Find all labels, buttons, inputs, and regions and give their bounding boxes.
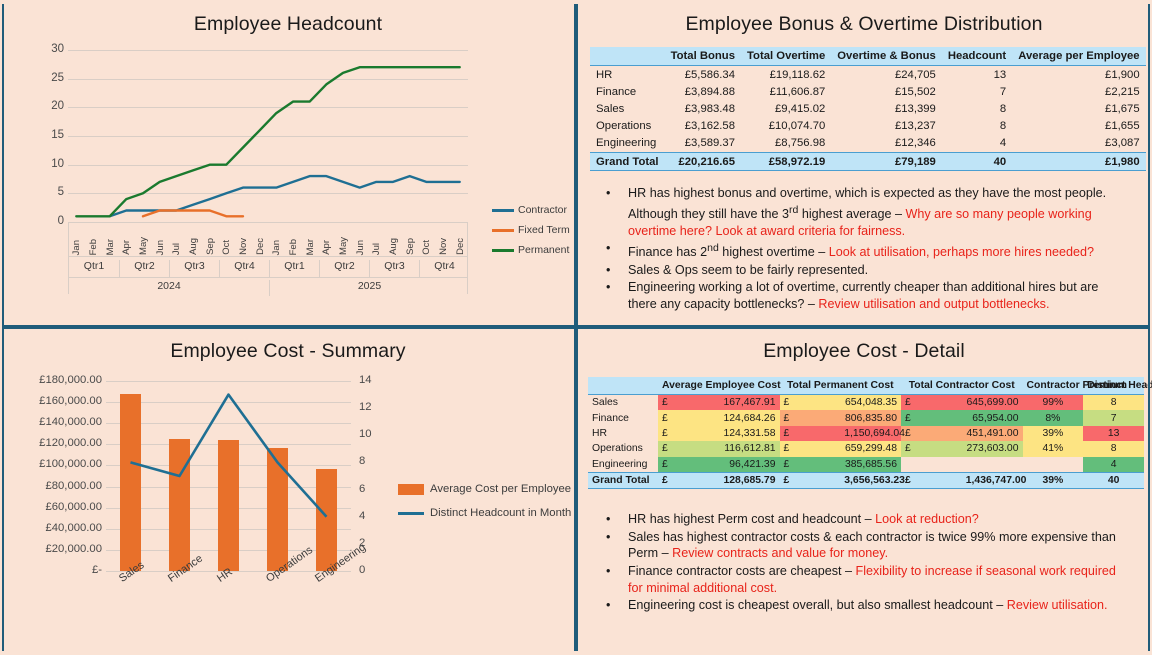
detail-cell-avg: 96,421.39	[719, 457, 780, 473]
detail-cell-perm: 1,150,694.04	[840, 426, 901, 441]
bonus-cell-bonus: £5,586.34	[665, 66, 741, 84]
headcount-series-svg	[68, 50, 468, 222]
bonus-cell-combined: £24,705	[831, 66, 942, 84]
detail-currency-symbol: £	[658, 426, 719, 441]
panel-bonus-overtime: Employee Bonus & Overtime Distribution T…	[576, 0, 1152, 327]
detail-currency-symbol: £	[901, 410, 962, 425]
legend-swatch	[398, 484, 424, 495]
table-row: Sales£3,983.48£9,415.02£13,3998£1,675	[590, 100, 1146, 117]
bullet-action-text: Look at utilisation, perhaps more hires …	[829, 245, 1094, 259]
headcount-x-axis: JanFebMarAprMayJunJulAugSepOctNovDecJanF…	[68, 222, 468, 294]
line-series-permanent	[76, 67, 459, 216]
panel-cost-summary: Employee Cost - Summary £-£20,000.00£40,…	[0, 327, 576, 655]
bullet-text: Engineering working a lot of overtime, c…	[628, 279, 1126, 312]
bullet-action-text: Look at reduction?	[875, 512, 979, 526]
bonus-cell-headcount: 4	[942, 135, 1012, 153]
x-tick-label: Dec	[454, 238, 468, 255]
quarter-label: Qtr1	[69, 260, 119, 277]
headcount-quarter-labels: Qtr1Qtr2Qtr3Qtr4Qtr1Qtr2Qtr3Qtr4	[69, 256, 467, 277]
detail-col-header: Distinct Headcount	[1083, 377, 1144, 395]
table-row: Finance£124,684.26£806,835.80£65,954.008…	[588, 410, 1144, 425]
table-row: HR£124,331.58£1,150,694.04£451,491.0039%…	[588, 426, 1144, 441]
detail-currency-symbol: £	[658, 410, 719, 425]
headcount-line-series	[131, 395, 327, 517]
quarter-label: Qtr2	[119, 260, 169, 277]
detail-table: Average Employee CostTotal Permanent Cos…	[588, 377, 1144, 489]
legend-item[interactable]: Contractor	[492, 200, 576, 220]
bonus-title: Employee Bonus & Overtime Distribution	[576, 0, 1152, 38]
detail-col-header: Contractor Premium	[1023, 377, 1084, 395]
bonus-col-header: Average per Employee	[1012, 47, 1145, 66]
detail-cell-premium: 99%	[1023, 395, 1084, 411]
y-tick-label: 30	[28, 43, 64, 55]
bonus-cell-bonus: £3,894.88	[665, 83, 741, 100]
detail-cell-dept: Operations	[588, 441, 658, 456]
x-tick-label: Apr	[320, 240, 334, 255]
headcount-line-chart: 051015202530 JanFebMarAprMayJunJulAugSep…	[0, 38, 576, 308]
y-tick-label-left: £20,000.00	[4, 543, 102, 555]
bonus-cell-overtime: £9,415.02	[741, 100, 831, 117]
detail-cell-avg: 124,684.26	[719, 410, 780, 425]
detail-currency-symbol	[901, 457, 962, 473]
bullet-item: •HR has highest bonus and overtime, whic…	[606, 185, 1126, 239]
bullet-dot: •	[606, 240, 628, 261]
y-tick-label-left: £100,000.00	[4, 458, 102, 470]
detail-currency-symbol: £	[658, 441, 719, 456]
y-tick-label-left: £40,000.00	[4, 522, 102, 534]
y-tick-label: 15	[28, 129, 64, 141]
x-tick-label: Mar	[104, 239, 118, 255]
detail-cell-headcount: 4	[1083, 457, 1144, 473]
bonus-table-body: HR£5,586.34£19,118.62£24,70513£1,900Fina…	[590, 66, 1146, 171]
detail-cell-cont: 451,491.00	[962, 426, 1023, 441]
legend-item[interactable]: Average Cost per Employee	[398, 477, 571, 501]
bonus-cell-dept: HR	[590, 66, 665, 84]
y-tick-label-right: 14	[359, 374, 389, 386]
y-tick-label-right: 8	[359, 455, 389, 467]
detail-total-cont: 1,436,747.00	[962, 472, 1023, 488]
bullet-text: HR has highest Perm cost and headcount –…	[628, 511, 1126, 528]
detail-col-header	[588, 377, 658, 395]
bullet-text: Finance has 2nd highest overtime – Look …	[628, 240, 1126, 261]
x-tick-label: Sep	[204, 238, 218, 255]
detail-col-header: Total Contractor Cost	[901, 377, 1023, 395]
detail-total-currency: £	[901, 472, 962, 488]
y-tick-label: 5	[28, 186, 64, 198]
table-row: Operations£116,612.81£659,299.48£273,603…	[588, 441, 1144, 456]
table-row: Finance£3,894.88£11,606.87£15,5027£2,215	[590, 83, 1146, 100]
x-tick-label: Aug	[387, 238, 401, 255]
bullet-action-text: Review utilisation and output bottleneck…	[818, 297, 1049, 311]
y-tick-label: 20	[28, 100, 64, 112]
bonus-cell-bonus: £3,162.58	[665, 118, 741, 135]
bonus-cell-combined: £12,346	[831, 135, 942, 153]
bonus-cell-bonus: £3,589.37	[665, 135, 741, 153]
y-tick-label-left: £60,000.00	[4, 501, 102, 513]
bullet-action-text: Flexibility to increase if seasonal work…	[628, 564, 1116, 595]
x-tick-label: Feb	[87, 239, 101, 255]
bullet-text: Sales & Ops seem to be fairly represente…	[628, 262, 1126, 279]
y-tick-label-left: £180,000.00	[4, 374, 102, 386]
bullet-item: •Finance has 2nd highest overtime – Look…	[606, 240, 1126, 261]
y-tick-label-left: £160,000.00	[4, 395, 102, 407]
bullet-item: •Engineering working a lot of overtime, …	[606, 279, 1126, 312]
dashboard: Employee Headcount 051015202530 JanFebMa…	[0, 0, 1152, 655]
legend-line-swatch	[492, 229, 514, 232]
bonus-col-header	[590, 47, 665, 66]
detail-currency-symbol: £	[780, 441, 841, 456]
bonus-total-headcount: 40	[942, 152, 1012, 170]
cost-detail-title: Employee Cost - Detail	[576, 327, 1152, 365]
detail-col-header: Average Employee Cost	[658, 377, 780, 395]
cost-legend: Average Cost per EmployeeDistinct Headco…	[398, 477, 571, 525]
legend-swatch	[398, 512, 424, 515]
bonus-cell-overtime: £19,118.62	[741, 66, 831, 84]
detail-cell-dept: Sales	[588, 395, 658, 411]
headcount-year-labels: 20242025	[69, 277, 467, 296]
detail-cell-premium	[1023, 457, 1084, 473]
table-row: Operations£3,162.58£10,074.70£13,2378£1,…	[590, 118, 1146, 135]
quarter-label: Qtr2	[319, 260, 369, 277]
x-tick-label: Feb	[287, 239, 301, 255]
bullet-text: Engineering cost is cheapest overall, bu…	[628, 597, 1126, 614]
y-tick-label-left: £120,000.00	[4, 437, 102, 449]
legend-label: Fixed Term	[518, 224, 570, 236]
bonus-cell-overtime: £10,074.70	[741, 118, 831, 135]
detail-cell-premium: 39%	[1023, 426, 1084, 441]
bullet-action-text: Why are so many people working overtime …	[628, 207, 1092, 238]
bonus-cell-overtime: £8,756.98	[741, 135, 831, 153]
table-row: Engineering£96,421.39£385,685.564	[588, 457, 1144, 473]
bonus-total-bonus: £20,216.65	[665, 152, 741, 170]
cost-summary-combo-chart: £-£20,000.00£40,000.00£60,000.00£80,000.…	[0, 365, 576, 645]
detail-cell-cont: 65,954.00	[962, 410, 1023, 425]
x-tick-label: Oct	[220, 240, 234, 255]
detail-currency-symbol: £	[901, 441, 962, 456]
table-row: Sales£167,467.91£654,048.35£645,699.0099…	[588, 395, 1144, 411]
bonus-cell-headcount: 13	[942, 66, 1012, 84]
cost-plot-area: £-£20,000.00£40,000.00£60,000.00£80,000.…	[106, 381, 351, 571]
detail-currency-symbol: £	[780, 426, 841, 441]
x-tick-label: Jan	[70, 240, 84, 255]
x-tick-label: Jun	[154, 240, 168, 255]
bullet-action-text: Review utilisation.	[1007, 598, 1108, 612]
detail-total-currency: £	[780, 472, 841, 488]
detail-cell-dept: HR	[588, 426, 658, 441]
detail-cell-dept: Engineering	[588, 457, 658, 473]
y-tick-label-right: 12	[359, 401, 389, 413]
detail-cell-perm: 659,299.48	[840, 441, 901, 456]
detail-total-currency: £	[658, 472, 719, 488]
detail-currency-symbol: £	[780, 457, 841, 473]
y-tick-label-right: 4	[359, 510, 389, 522]
x-tick-label: May	[337, 237, 351, 255]
bonus-total-average: £1,980	[1012, 152, 1145, 170]
detail-currency-symbol: £	[780, 410, 841, 425]
x-tick-label: Apr	[120, 240, 134, 255]
bullet-item: •Engineering cost is cheapest overall, b…	[606, 597, 1126, 614]
detail-currency-symbol: £	[658, 457, 719, 473]
x-tick-label: Nov	[437, 238, 451, 255]
bullet-dot: •	[606, 279, 628, 312]
bonus-cell-dept: Finance	[590, 83, 665, 100]
detail-col-header: Total Permanent Cost	[780, 377, 902, 395]
bonus-cell-overtime: £11,606.87	[741, 83, 831, 100]
bonus-total-combined: £79,189	[831, 152, 942, 170]
bonus-cell-dept: Operations	[590, 118, 665, 135]
legend-item[interactable]: Fixed Term	[492, 220, 576, 240]
legend-label: Contractor	[518, 204, 567, 216]
detail-total-headcount: 40	[1083, 472, 1144, 488]
detail-cell-cont: 273,603.00	[962, 441, 1023, 456]
bonus-cell-headcount: 8	[942, 100, 1012, 117]
detail-cell-avg: 124,331.58	[719, 426, 780, 441]
legend-item[interactable]: Distinct Headcount in Month	[398, 501, 571, 525]
bonus-cell-average: £1,655	[1012, 118, 1145, 135]
detail-cell-headcount: 8	[1083, 395, 1144, 411]
bonus-cell-combined: £13,237	[831, 118, 942, 135]
detail-cell-avg: 116,612.81	[719, 441, 780, 456]
bullet-dot: •	[606, 511, 628, 528]
quarter-label: Qtr1	[269, 260, 319, 277]
bullet-item: •Sales has highest contractor costs & ea…	[606, 529, 1126, 562]
bonus-table-header-row: Total BonusTotal OvertimeOvertime & Bonu…	[590, 47, 1146, 66]
bullet-text: Finance contractor costs are cheapest – …	[628, 563, 1126, 596]
y-tick-label-right: 0	[359, 564, 389, 576]
y-tick-label-right: 10	[359, 428, 389, 440]
detail-cell-cont	[962, 457, 1023, 473]
detail-currency-symbol: £	[901, 395, 962, 411]
horizontal-divider	[4, 325, 1148, 329]
detail-cell-perm: 806,835.80	[840, 410, 901, 425]
bonus-table: Total BonusTotal OvertimeOvertime & Bonu…	[590, 47, 1146, 171]
x-tick-label: Jun	[354, 240, 368, 255]
detail-cell-cont: 645,699.00	[962, 395, 1023, 411]
detail-cell-premium: 8%	[1023, 410, 1084, 425]
year-label: 2025	[269, 280, 469, 296]
bonus-cell-average: £2,215	[1012, 83, 1145, 100]
detail-cell-perm: 385,685.56	[840, 457, 901, 473]
panel-cost-detail: Employee Cost - Detail Average Employee …	[576, 327, 1152, 655]
y-tick-label: 10	[28, 158, 64, 170]
y-tick-label-left: £-	[4, 564, 102, 576]
detail-cell-avg: 167,467.91	[719, 395, 780, 411]
bullet-text: Sales has highest contractor costs & eac…	[628, 529, 1126, 562]
bullet-item: •Sales & Ops seem to be fairly represent…	[606, 262, 1126, 279]
bonus-col-header: Headcount	[942, 47, 1012, 66]
x-tick-label: May	[137, 237, 151, 255]
y-tick-label-left: £80,000.00	[4, 480, 102, 492]
quarter-label: Qtr3	[369, 260, 419, 277]
bonus-cell-combined: £13,399	[831, 100, 942, 117]
grand-total-row: Grand Total£128,685.79£3,656,563.23£1,43…	[588, 472, 1144, 488]
headcount-title: Employee Headcount	[0, 0, 576, 38]
x-tick-label: Jul	[370, 243, 384, 255]
bullet-text: HR has highest bonus and overtime, which…	[628, 185, 1126, 239]
bullet-dot: •	[606, 597, 628, 614]
bonus-cell-combined: £15,502	[831, 83, 942, 100]
cost-category-labels: SalesFinanceHROperationsEngineering	[106, 575, 351, 635]
panel-employee-headcount: Employee Headcount 051015202530 JanFebMa…	[0, 0, 576, 327]
x-tick-label: Jul	[170, 243, 184, 255]
bullet-dot: •	[606, 185, 628, 239]
bonus-col-header: Overtime & Bonus	[831, 47, 942, 66]
right-border	[1148, 4, 1150, 651]
detail-cell-dept: Finance	[588, 410, 658, 425]
bullet-dot: •	[606, 563, 628, 596]
headcount-month-labels: JanFebMarAprMayJunJulAugSepOctNovDecJanF…	[69, 222, 467, 256]
detail-cell-headcount: 8	[1083, 441, 1144, 456]
bullet-dot: •	[606, 529, 628, 562]
bonus-cell-dept: Engineering	[590, 135, 665, 153]
x-tick-label: Nov	[237, 238, 251, 255]
quarter-label: Qtr3	[169, 260, 219, 277]
cost-line-svg	[106, 381, 351, 571]
y-tick-label-left: £140,000.00	[4, 416, 102, 428]
detail-currency-symbol: £	[780, 395, 841, 411]
headcount-plot-area: 051015202530	[68, 50, 468, 222]
bonus-cell-average: £1,900	[1012, 66, 1145, 84]
table-row: Engineering£3,589.37£8,756.98£12,3464£3,…	[590, 135, 1146, 153]
headcount-legend: ContractorFixed TermPermanent	[492, 200, 576, 260]
x-tick-label: Dec	[254, 238, 268, 255]
detail-total-perm: 3,656,563.23	[840, 472, 901, 488]
detail-bullet-list: •HR has highest Perm cost and headcount …	[606, 511, 1126, 614]
bonus-total-dept: Grand Total	[590, 152, 665, 170]
detail-cell-headcount: 13	[1083, 426, 1144, 441]
detail-currency-symbol: £	[901, 426, 962, 441]
bonus-cell-headcount: 8	[942, 118, 1012, 135]
x-tick-label: Jan	[270, 240, 284, 255]
x-tick-label: Mar	[304, 239, 318, 255]
bonus-cell-average: £1,675	[1012, 100, 1145, 117]
x-tick-label: Sep	[404, 238, 418, 255]
bonus-bullet-list: •HR has highest bonus and overtime, whic…	[606, 185, 1126, 313]
detail-cell-perm: 654,048.35	[840, 395, 901, 411]
detail-currency-symbol: £	[658, 395, 719, 411]
legend-line-swatch	[492, 209, 514, 212]
table-row: HR£5,586.34£19,118.62£24,70513£1,900	[590, 66, 1146, 84]
bullet-item: •HR has highest Perm cost and headcount …	[606, 511, 1126, 528]
x-tick-label: Aug	[187, 238, 201, 255]
detail-total-dept: Grand Total	[588, 472, 658, 488]
detail-cell-premium: 41%	[1023, 441, 1084, 456]
bonus-cell-headcount: 7	[942, 83, 1012, 100]
cost-summary-title: Employee Cost - Summary	[0, 327, 576, 365]
legend-line-swatch	[492, 249, 514, 252]
x-tick-label: Oct	[420, 240, 434, 255]
detail-total-avg: 128,685.79	[719, 472, 780, 488]
y-tick-label-right: 6	[359, 483, 389, 495]
detail-table-header-row: Average Employee CostTotal Permanent Cos…	[588, 377, 1144, 395]
legend-item[interactable]: Permanent	[492, 240, 576, 260]
legend-label: Average Cost per Employee	[430, 483, 571, 495]
bonus-col-header: Total Overtime	[741, 47, 831, 66]
quarter-label: Qtr4	[419, 260, 469, 277]
legend-label: Distinct Headcount in Month	[430, 507, 571, 519]
line-series-fixed-term	[143, 211, 243, 217]
bullet-dot: •	[606, 262, 628, 279]
detail-cell-headcount: 7	[1083, 410, 1144, 425]
y-tick-label: 0	[28, 215, 64, 227]
bonus-cell-dept: Sales	[590, 100, 665, 117]
bonus-cell-average: £3,087	[1012, 135, 1145, 153]
bullet-action-text: Review contracts and value for money.	[672, 546, 888, 560]
year-label: 2024	[69, 280, 269, 296]
y-tick-label: 25	[28, 72, 64, 84]
quarter-label: Qtr4	[219, 260, 269, 277]
detail-total-premium: 39%	[1023, 472, 1084, 488]
grand-total-row: Grand Total£20,216.65£58,972.19£79,18940…	[590, 152, 1146, 170]
bonus-col-header: Total Bonus	[665, 47, 741, 66]
bonus-cell-bonus: £3,983.48	[665, 100, 741, 117]
bullet-item: •Finance contractor costs are cheapest –…	[606, 563, 1126, 596]
legend-label: Permanent	[518, 244, 569, 256]
detail-table-body: Sales£167,467.91£654,048.35£645,699.0099…	[588, 395, 1144, 489]
bonus-total-overtime: £58,972.19	[741, 152, 831, 170]
